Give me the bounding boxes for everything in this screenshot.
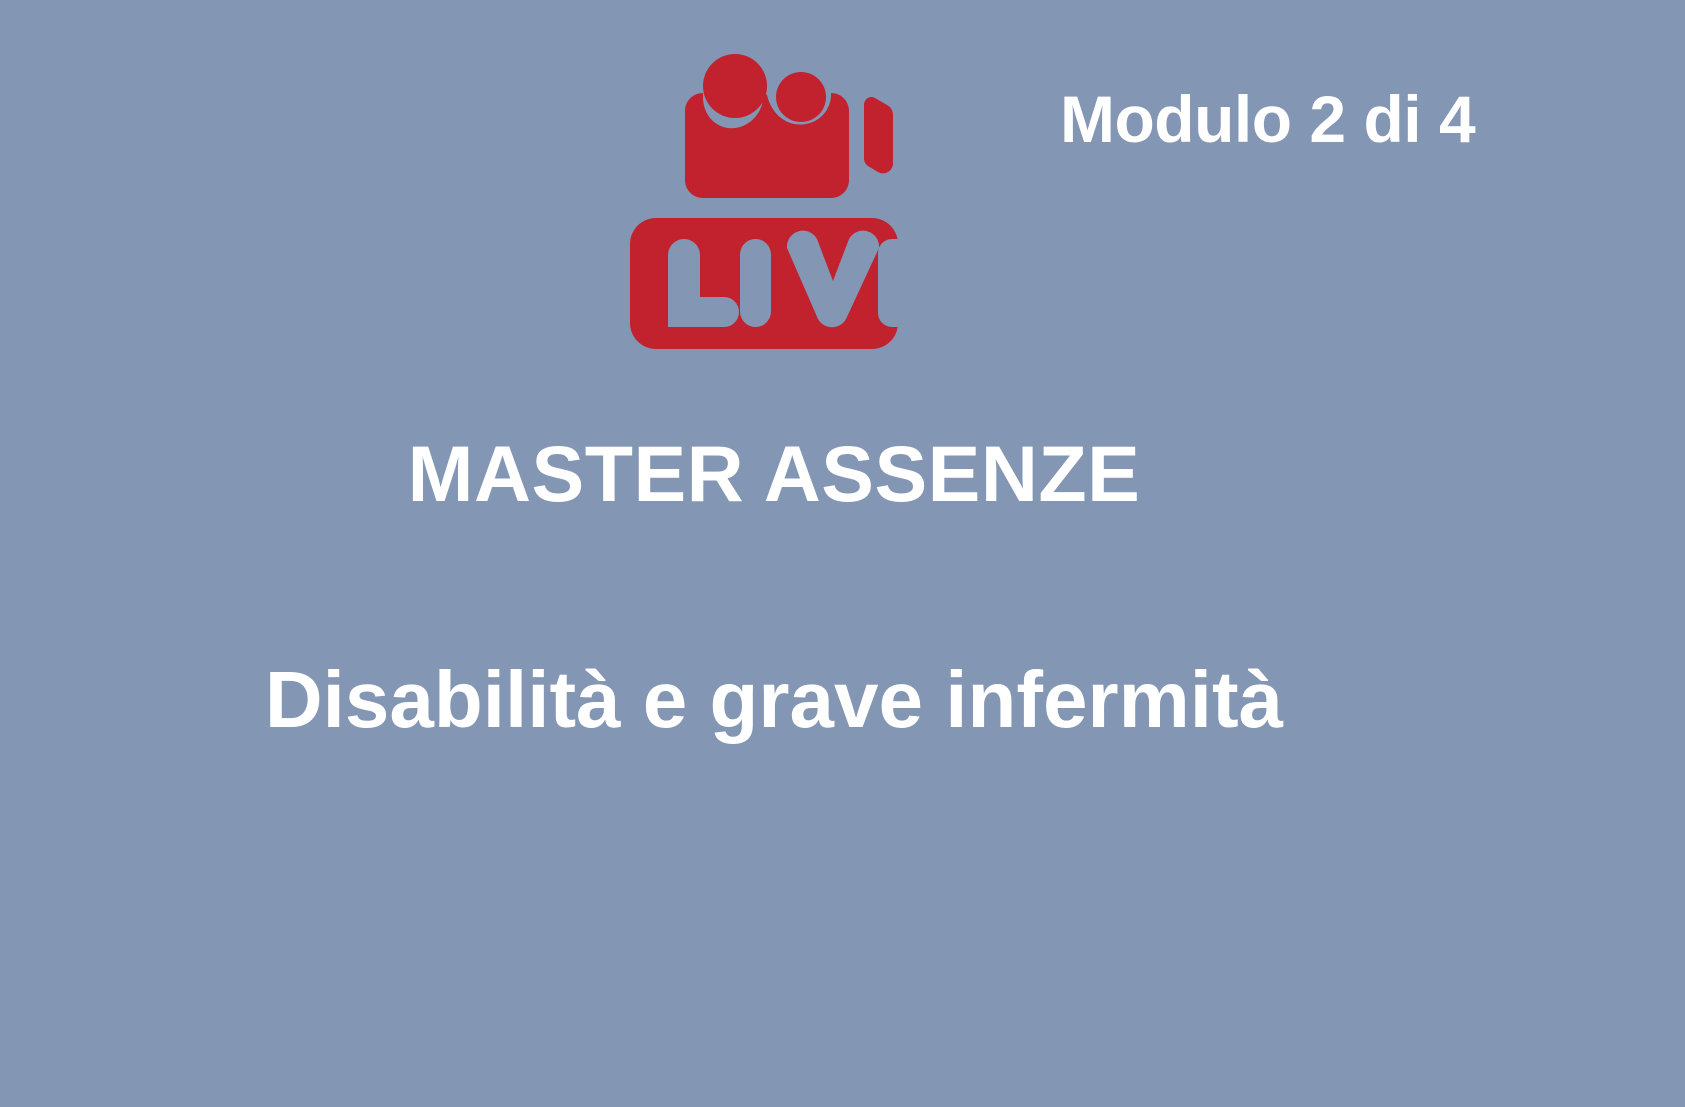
module-counter-label: Modulo 2 di 4 (1060, 86, 1580, 152)
live-video-camera-icon (673, 53, 903, 198)
live-badge-group (625, 45, 905, 355)
live-badge (630, 218, 898, 349)
page-subtitle: Disabilità e grave infermità (0, 660, 1548, 740)
slide-canvas: Modulo 2 di 4 MASTER ASSENZE Disabilità … (0, 0, 1685, 1107)
page-title: MASTER ASSENZE (0, 434, 1548, 513)
